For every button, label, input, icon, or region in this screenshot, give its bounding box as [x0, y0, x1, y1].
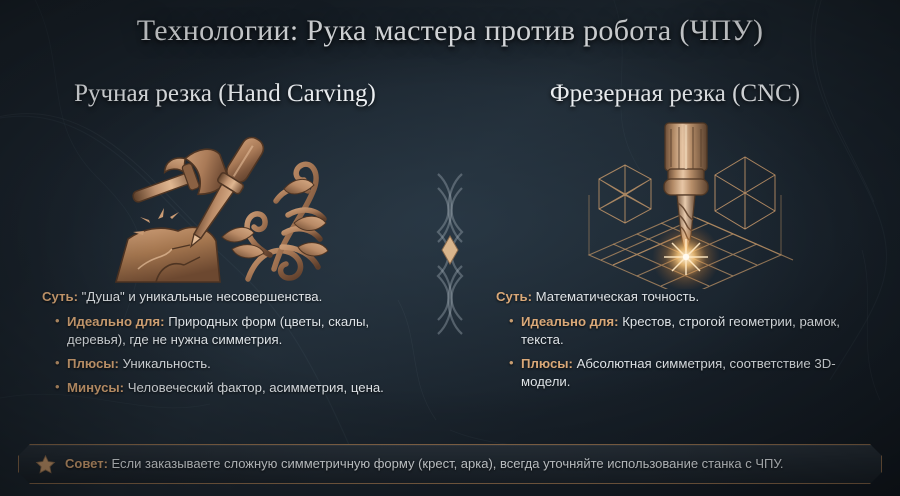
bullet-label: Плюсы: [521, 356, 573, 371]
stone-block-shape [116, 227, 220, 282]
page-title: Технологии: Рука мастера против робота (… [0, 14, 900, 48]
bullet-list-cnc: Идеально для: Крестов, строгой геометрии… [496, 313, 880, 391]
bullet-list-hand-carving: Идеально для: Природных форм (цветы, ска… [42, 313, 412, 397]
tip-label: Совет: [65, 456, 108, 471]
column-cnc: Суть: Математическая точность. Идеально … [470, 118, 900, 397]
list-item: Идеально для: Крестов, строгой геометрии… [509, 313, 880, 349]
bullet-label: Минусы: [67, 380, 124, 395]
column-hand-carving: Суть: "Душа" и уникальные несовершенства… [8, 118, 438, 403]
tip-body: Если заказываете сложную симметричную фо… [108, 456, 784, 471]
lede-value: "Душа" и уникальные несовершенства. [78, 289, 322, 304]
lede-cnc: Суть: Математическая точность. [496, 288, 880, 306]
bullet-label: Идеально для: [521, 314, 619, 329]
celtic-knot-divider-ornament [426, 78, 474, 418]
tip-banner: Совет: Если заказываете сложную симметри… [18, 444, 882, 484]
hammer-chisel-stone-carving-icon [8, 118, 438, 288]
lede-hand-carving: Суть: "Душа" и уникальные несовершенства… [42, 288, 412, 306]
bullet-text: Человеческий фактор, асимметрия, цена. [124, 380, 384, 395]
wireframe-polyhedron-left [599, 165, 651, 223]
lede-label: Суть: [42, 289, 78, 304]
list-item: Идеально для: Природных форм (цветы, ска… [55, 313, 412, 349]
infographic-canvas: Технологии: Рука мастера против робота (… [0, 0, 900, 496]
bullet-text: Уникальность. [119, 356, 211, 371]
star-icon [35, 454, 56, 475]
lede-label: Суть: [496, 289, 532, 304]
spindle-shape [664, 123, 708, 195]
lede-value: Математическая точность. [532, 289, 699, 304]
list-item: Минусы: Человеческий фактор, асимметрия,… [55, 379, 412, 397]
wireframe-polyhedron-right [715, 157, 775, 229]
hand-carving-text: Суть: "Душа" и уникальные несовершенства… [8, 288, 438, 397]
bullet-label: Плюсы: [67, 356, 119, 371]
tip-text: Совет: Если заказываете сложную симметри… [65, 456, 783, 472]
column-subtitle-hand-carving: Ручная резка (Hand Carving) [0, 80, 450, 108]
bullet-label: Идеально для: [67, 314, 165, 329]
cnc-text: Суть: Математическая точность. Идеально … [470, 288, 900, 391]
cnc-milling-spindle-icon [470, 118, 900, 288]
list-item: Плюсы: Уникальность. [55, 355, 412, 373]
list-item: Плюсы: Абсолютная симметрия, соответстви… [509, 355, 880, 391]
column-subtitle-cnc: Фрезерная резка (CNC) [450, 80, 900, 108]
